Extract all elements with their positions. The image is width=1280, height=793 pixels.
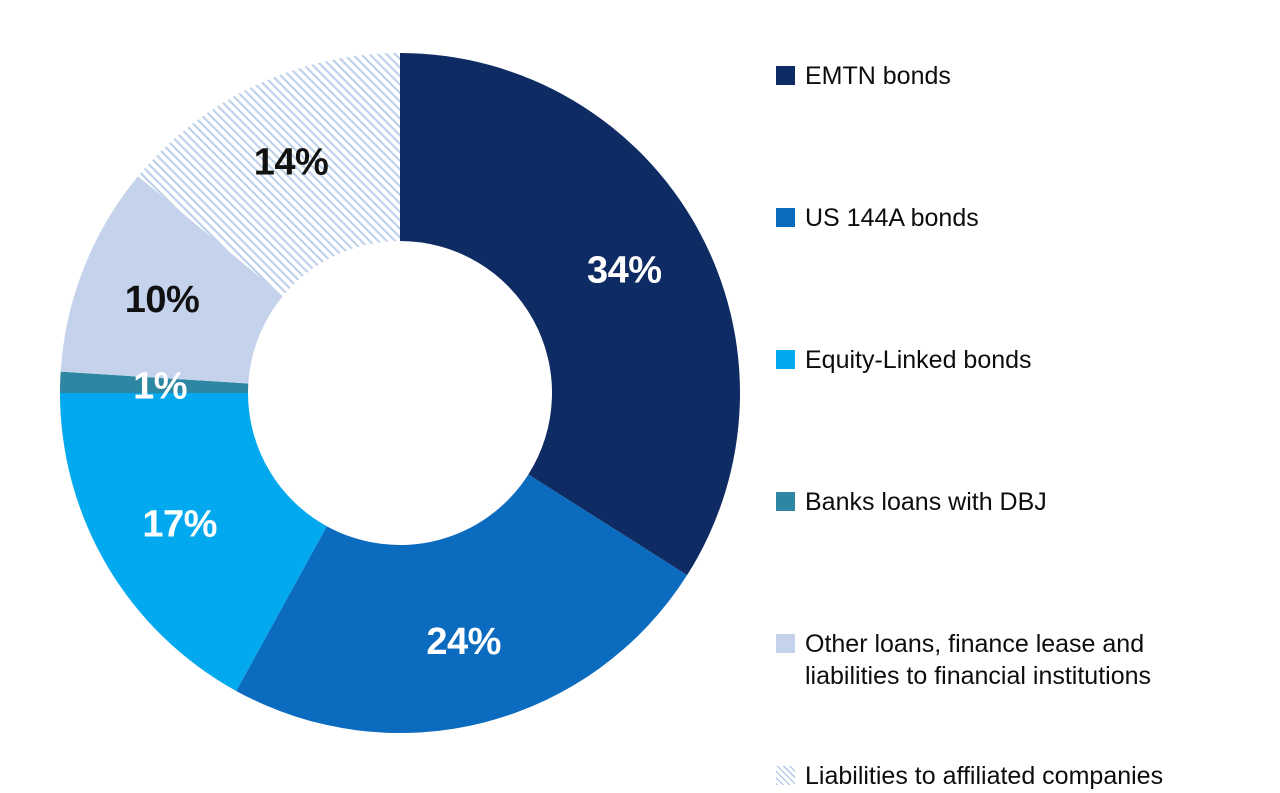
legend-item-label: Liabilities to affiliated companies bbox=[805, 760, 1163, 792]
legend-color-swatch-icon bbox=[776, 350, 795, 369]
slice-percentage-label: 24% bbox=[426, 621, 501, 663]
chart-page: 34%24%17%1%10%14% EMTN bondsUS 144A bond… bbox=[0, 0, 1280, 793]
legend-item-label: EMTN bonds bbox=[805, 60, 951, 92]
legend-item-label: Other loans, finance lease and liabiliti… bbox=[805, 628, 1151, 692]
legend-item[interactable]: Banks loans with DBJ bbox=[776, 486, 1276, 518]
slice-percentage-label: 1% bbox=[133, 366, 187, 408]
legend-hatch-swatch-icon bbox=[776, 766, 795, 785]
legend-item[interactable]: US 144A bonds bbox=[776, 202, 1276, 234]
slice-percentage-label: 14% bbox=[254, 141, 329, 183]
legend-item-label: Banks loans with DBJ bbox=[805, 486, 1047, 518]
legend-item[interactable]: EMTN bonds bbox=[776, 60, 1276, 92]
donut-slice[interactable] bbox=[400, 53, 740, 575]
chart-legend: EMTN bondsUS 144A bondsEquity-Linked bon… bbox=[776, 60, 1276, 792]
legend-item[interactable]: Liabilities to affiliated companies bbox=[776, 760, 1276, 792]
legend-color-swatch-icon bbox=[776, 492, 795, 511]
legend-color-swatch-icon bbox=[776, 66, 795, 85]
slice-percentage-label: 10% bbox=[125, 279, 200, 321]
legend-item-label: Equity-Linked bonds bbox=[805, 344, 1032, 376]
legend-item[interactable]: Other loans, finance lease and liabiliti… bbox=[776, 628, 1276, 692]
donut-chart: 34%24%17%1%10%14% bbox=[0, 0, 780, 793]
slice-percentage-label: 34% bbox=[587, 250, 662, 292]
legend-color-swatch-icon bbox=[776, 208, 795, 227]
slice-percentage-label: 17% bbox=[142, 503, 217, 545]
donut-chart-svg: 34%24%17%1%10%14% bbox=[0, 0, 780, 793]
legend-item[interactable]: Equity-Linked bonds bbox=[776, 344, 1276, 376]
legend-color-swatch-icon bbox=[776, 634, 795, 653]
legend-item-label: US 144A bonds bbox=[805, 202, 979, 234]
